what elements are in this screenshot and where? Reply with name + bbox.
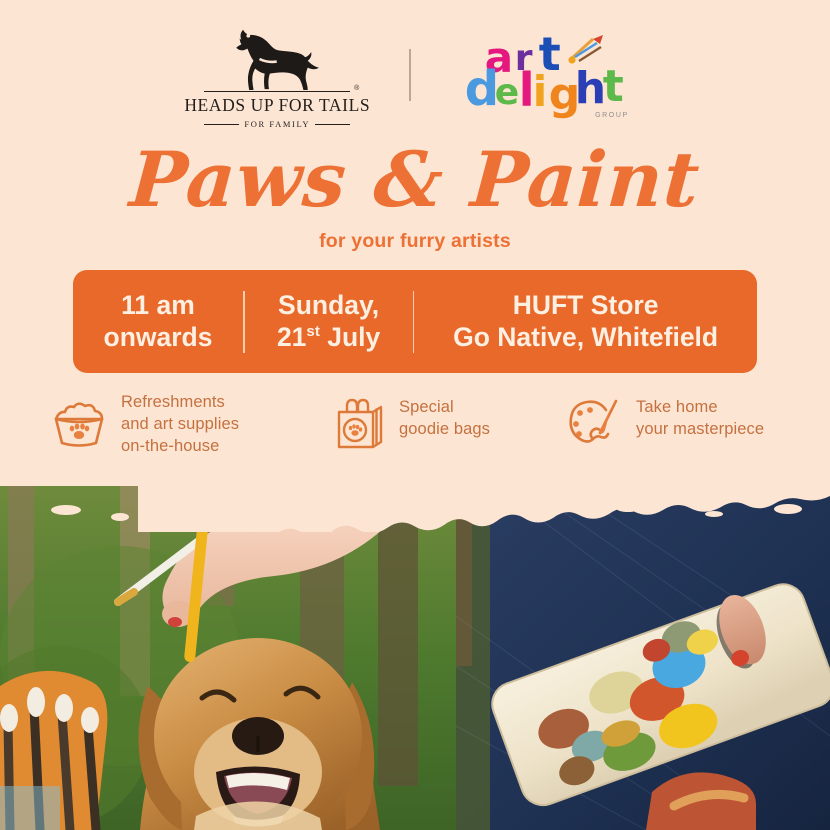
art-delight-group-label: GROUP (595, 112, 629, 119)
logo-separator (409, 49, 411, 101)
banner-day: 21 (277, 322, 306, 352)
dog-being-painted-photo (0, 486, 456, 830)
huft-logo-tagline: FOR FAMILY (244, 119, 310, 129)
poster-title: Paws & Paint (0, 140, 830, 220)
feature-line: your masterpiece (636, 420, 764, 438)
logo-letter-h: h (575, 67, 606, 111)
logo-letter-e: e (495, 75, 519, 111)
feature-masterpiece-text: Take home your masterpiece (636, 397, 764, 441)
tagline-rule-left (204, 124, 239, 125)
feature-goodie-bags-text: Special goodie bags (399, 397, 490, 441)
banner-venue-line2: Go Native, Whitefield (414, 322, 757, 353)
banner-time-line2: onwards (73, 322, 243, 353)
feature-masterpiece: Take home your masterpiece (567, 392, 807, 454)
banner-venue-line1: HUFT Store (414, 290, 757, 321)
poster-subtitle: for your furry artists (0, 230, 830, 253)
banner-weekday: Sunday, (245, 290, 413, 321)
photo-band (0, 486, 830, 830)
registered-mark: ® (354, 85, 359, 92)
poster-canvas: ® HEADS UP FOR TAILS FOR FAMILY a r t (0, 0, 830, 830)
paint-palette-photo (456, 486, 830, 830)
feature-goodie-bags: Special goodie bags (334, 392, 559, 456)
banner-time-line1: 11 am (73, 290, 243, 321)
dog-food-bowl-icon (50, 397, 108, 456)
huft-tagline-row: FOR FAMILY (204, 119, 350, 129)
feature-line: on-the-house (121, 437, 219, 455)
huft-logo: ® HEADS UP FOR TAILS FOR FAMILY (197, 28, 357, 130)
feature-line: Special (399, 398, 454, 416)
logo-letter-t2: t (603, 65, 624, 109)
banner-day-suffix: st (306, 323, 319, 340)
paint-palette-icon (567, 397, 623, 454)
paintbrushes-icon (567, 33, 611, 65)
banner-time: 11 am onwards (73, 290, 243, 353)
feature-line: Refreshments (121, 393, 225, 411)
banner-date-line: 21st July (245, 322, 413, 353)
event-details-banner: 11 am onwards Sunday, 21st July HUFT Sto… (73, 270, 757, 373)
tagline-rule-right (315, 124, 350, 125)
huft-logo-name: HEADS UP FOR TAILS (184, 95, 370, 116)
banner-venue: HUFT Store Go Native, Whitefield (414, 290, 757, 353)
feature-line: and art supplies (121, 415, 239, 433)
logo-row: ® HEADS UP FOR TAILS FOR FAMILY a r t (0, 26, 830, 131)
banner-month: July (327, 322, 380, 352)
banner-date: Sunday, 21st July (245, 290, 413, 353)
feature-line: Take home (636, 398, 718, 416)
feature-refreshments-text: Refreshments and art supplies on-the-hou… (121, 392, 239, 458)
shopping-bag-icon (334, 397, 386, 456)
dog-silhouette-icon (213, 28, 342, 90)
logo-letter-i: i (533, 71, 547, 113)
feature-line: goodie bags (399, 420, 490, 438)
art-delight-logo: a r t d e l i g h t GROUP (463, 31, 633, 127)
feature-refreshments: Refreshments and art supplies on-the-hou… (50, 392, 330, 458)
features-row: Refreshments and art supplies on-the-hou… (0, 392, 830, 476)
huft-logo-rule: ® (204, 91, 350, 93)
